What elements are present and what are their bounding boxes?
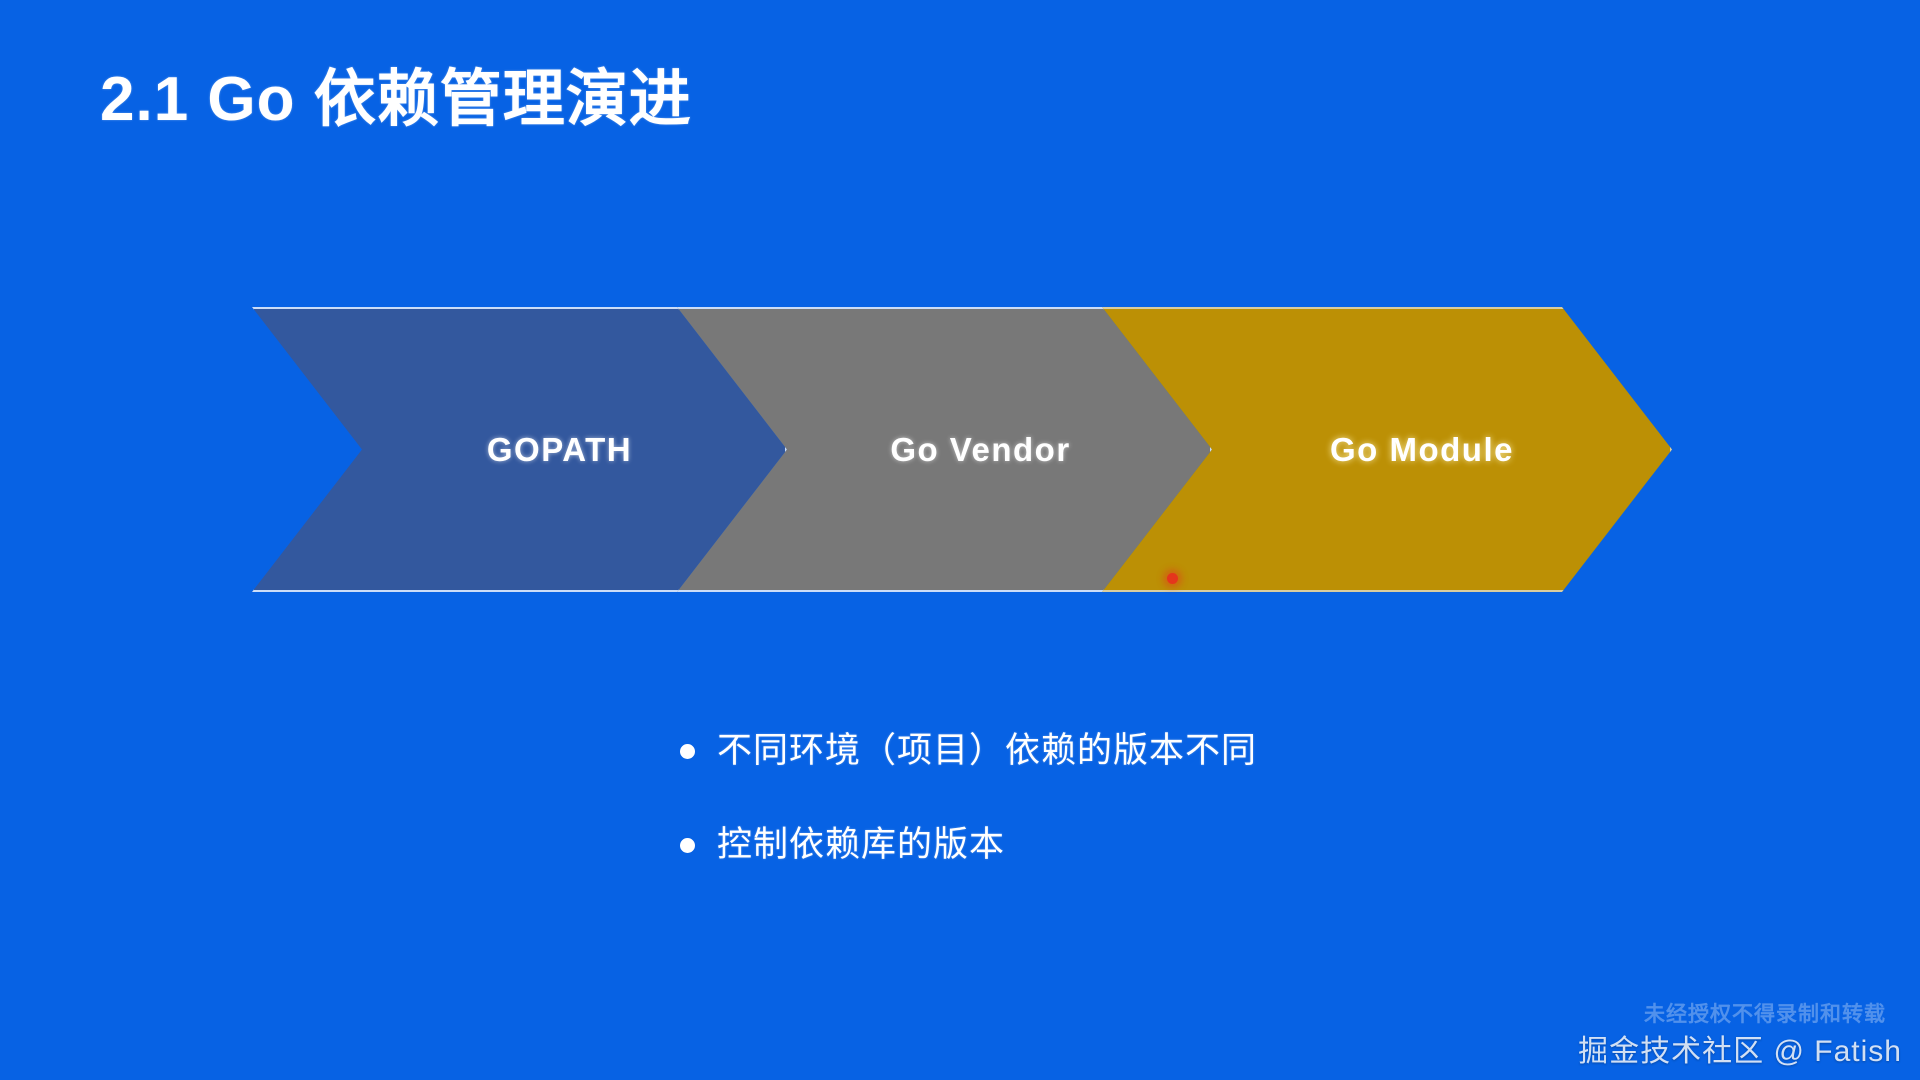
bullet-text: 控制依赖库的版本 [717,824,1005,866]
list-item: 控制依赖库的版本 [680,824,1580,866]
bullet-list: 不同环境（项目）依赖的版本不同 控制依赖库的版本 [680,730,1580,918]
process-step-gopath[interactable]: GOPATH [252,307,787,592]
process-diagram: GOPATH Go Vendor Go Module [252,307,1672,592]
list-item: 不同环境（项目）依赖的版本不同 [680,730,1580,772]
watermark-copyright-notice: 未经授权不得录制和转载 [1644,998,1886,1028]
bullet-text: 不同环境（项目）依赖的版本不同 [717,730,1257,772]
bullet-point-icon [680,744,695,759]
process-step-label: Go Vendor [818,431,1070,469]
presentation-slide: 2.1 Go 依赖管理演进 GOPATH Go Vendor Go Module… [0,0,1920,1080]
page-title: 2.1 Go 依赖管理演进 [100,48,692,138]
process-step-label: GOPATH [407,431,632,469]
process-step-label: Go Module [1260,431,1514,469]
watermark-channel: 掘金技术社区 @ Fatish [1578,1026,1902,1070]
cursor-pointer-dot [1167,573,1178,584]
bullet-point-icon [680,838,695,853]
